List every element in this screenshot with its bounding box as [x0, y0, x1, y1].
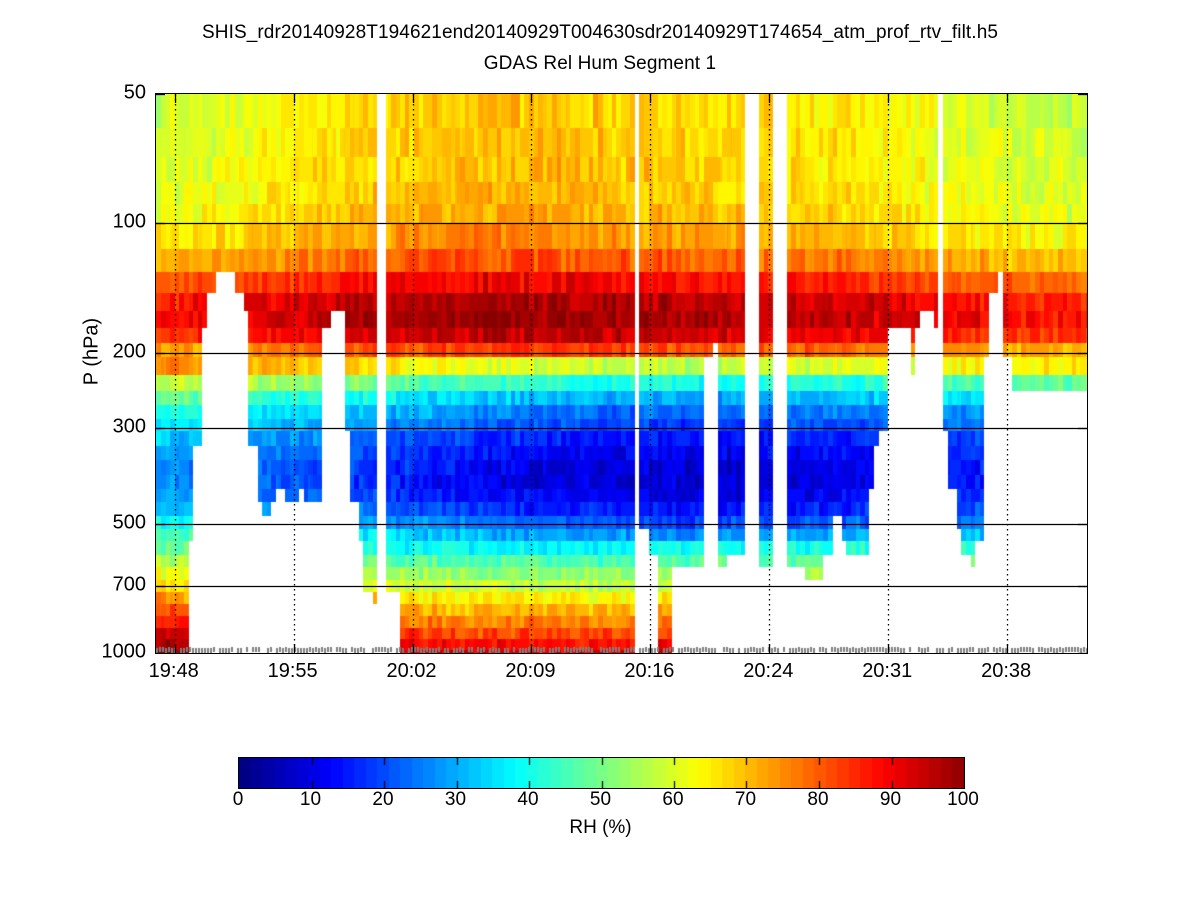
colorbar-tick-10: 10 [300, 789, 321, 811]
colorbar-tick-70: 70 [735, 789, 756, 811]
y-tick-100: 100 [6, 211, 146, 234]
y-tick-200: 200 [6, 340, 146, 363]
colorbar-tick-60: 60 [662, 789, 683, 811]
x-tick-19-55: 19:55 [268, 660, 318, 683]
colorbar-tick-labels: 0102030405060708090100 [238, 789, 963, 819]
x-axis-tick-labels: 19:4819:5520:0220:0920:1620:2420:3120:38 [155, 660, 1086, 694]
y-tick-50: 50 [6, 82, 146, 105]
colorbar-gradient[interactable] [238, 757, 965, 789]
colorbar-tick-50: 50 [590, 789, 611, 811]
figure-title-line1: SHIS_rdr20140928T194621end20140929T00463… [0, 22, 1200, 44]
x-tick-20-09: 20:09 [505, 660, 555, 683]
x-tick-19-48: 19:48 [149, 660, 199, 683]
colorbar-axis-title: RH (%) [238, 817, 963, 839]
colorbar-group: 0102030405060708090100 RH (%) [238, 757, 963, 789]
x-tick-20-31: 20:31 [862, 660, 912, 683]
colorbar-tick-20: 20 [372, 789, 393, 811]
y-tick-500: 500 [6, 511, 146, 534]
x-tick-20-16: 20:16 [624, 660, 674, 683]
heatmap-plot-area[interactable] [155, 93, 1088, 654]
figure-root: SHIS_rdr20140928T194621end20140929T00463… [0, 0, 1200, 900]
y-tick-300: 300 [6, 416, 146, 439]
figure-subtitle-line2: GDAS Rel Hum Segment 1 [0, 53, 1200, 75]
colorbar-tick-100: 100 [947, 789, 979, 811]
colorbar-tick-90: 90 [880, 789, 901, 811]
x-tick-20-24: 20:24 [743, 660, 793, 683]
colorbar-tick-80: 80 [807, 789, 828, 811]
x-tick-20-02: 20:02 [387, 660, 437, 683]
colorbar-tick-30: 30 [445, 789, 466, 811]
colorbar-tick-0: 0 [233, 789, 244, 811]
colorbar-tick-40: 40 [517, 789, 538, 811]
y-axis-tick-labels: 501002003005007001000 [0, 93, 146, 652]
x-tick-20-38: 20:38 [981, 660, 1031, 683]
axis-tick-marks [156, 94, 1087, 653]
y-tick-700: 700 [6, 574, 146, 597]
y-tick-1000: 1000 [6, 641, 146, 664]
